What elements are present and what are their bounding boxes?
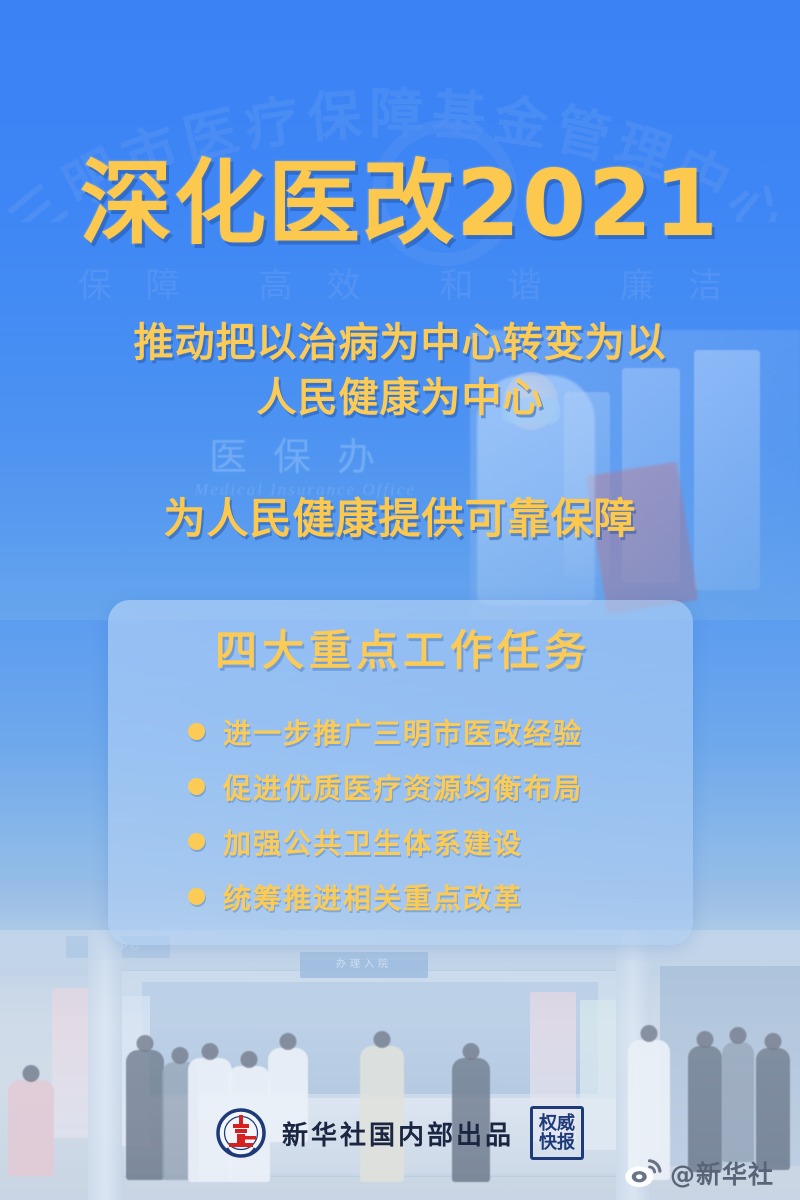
weibo-icon [624, 1158, 662, 1188]
stamp-line-2: 快报 [539, 1133, 575, 1152]
tasks-card-heading: 四大重点工作任务 [108, 630, 693, 672]
subtitle: 推动把以治病为中心转变为以 人民健康为中心 [0, 316, 800, 426]
bullet-dot-icon [188, 778, 205, 795]
tagline: 为人民健康提供可靠保障 [0, 498, 800, 540]
page-title: 深化医改2021 [0, 158, 800, 250]
producer-label: 新华社国内部出品 [282, 1115, 514, 1152]
tasks-card: 四大重点工作任务 进一步推广三明市医改经验 促进优质医疗资源均衡布局 加强公共卫… [108, 600, 693, 945]
task-label: 加强公共卫生体系建设 [223, 822, 523, 862]
poster-content: 深化医改2021 推动把以治病为中心转变为以 人民健康为中心 为人民健康提供可靠… [0, 0, 800, 1200]
subtitle-line-1: 推动把以治病为中心转变为以 [0, 316, 800, 371]
bullet-dot-icon [188, 723, 205, 740]
bullet-dot-icon [188, 888, 205, 905]
poster-root: 医保办 Medical Insurance Office 三明市医疗保障基金管理… [0, 0, 800, 1200]
list-item: 进一步推广三明市医改经验 [108, 704, 693, 759]
task-label: 统筹推进相关重点改革 [223, 877, 523, 917]
tasks-list: 进一步推广三明市医改经验 促进优质医疗资源均衡布局 加强公共卫生体系建设 统筹推… [108, 704, 693, 924]
authority-stamp-icon: 权威 快报 [530, 1106, 584, 1160]
list-item: 加强公共卫生体系建设 [108, 814, 693, 869]
stamp-line-1: 权威 [539, 1114, 575, 1133]
xinhua-logo-icon [216, 1108, 266, 1158]
subtitle-line-2: 人民健康为中心 [0, 371, 800, 426]
weibo-handle: @新华社 [670, 1155, 774, 1191]
list-item: 统筹推进相关重点改革 [108, 869, 693, 924]
task-label: 进一步推广三明市医改经验 [223, 712, 583, 752]
bullet-dot-icon [188, 833, 205, 850]
weibo-watermark: @新华社 [624, 1155, 774, 1191]
task-label: 促进优质医疗资源均衡布局 [223, 767, 583, 807]
list-item: 促进优质医疗资源均衡布局 [108, 759, 693, 814]
